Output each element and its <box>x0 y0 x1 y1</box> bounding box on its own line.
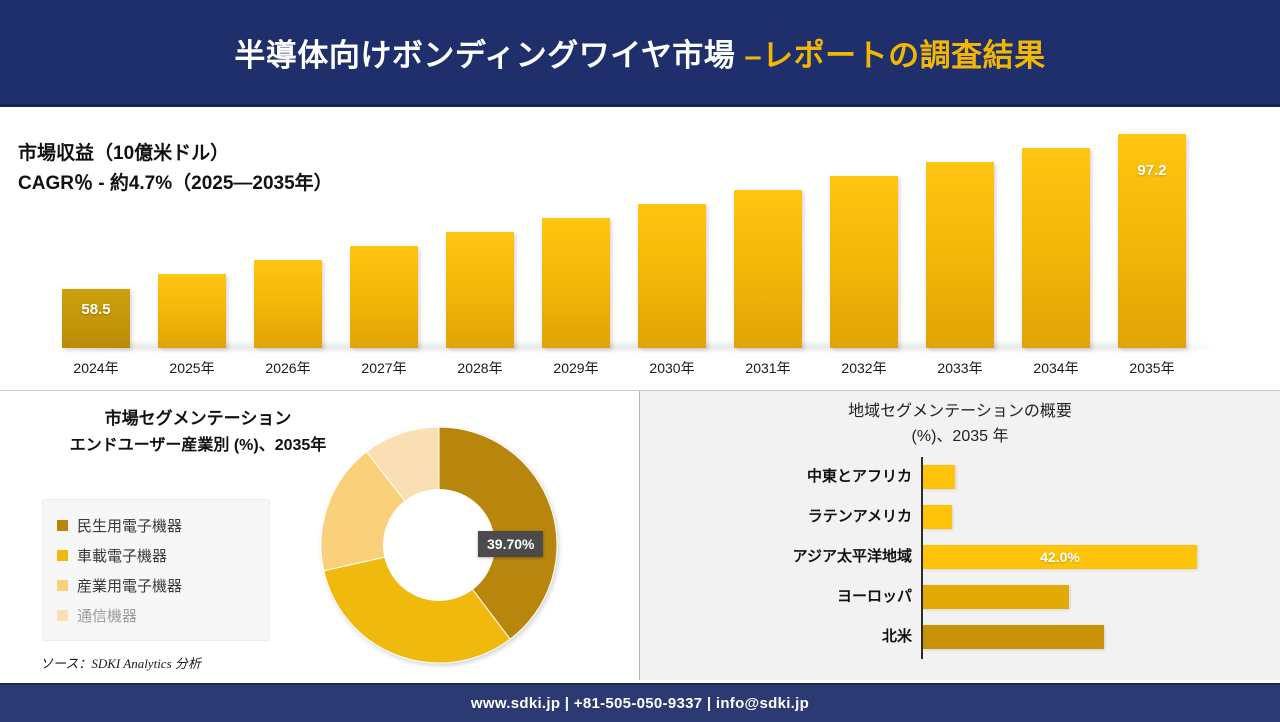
region-title-line2: (%)、2035 年 <box>640 424 1280 449</box>
region-bar-chart: 中東とアフリカラテンアメリカアジア太平洋地域42.0%ヨーロッパ北米 <box>640 457 1280 667</box>
revenue-bar <box>254 260 322 348</box>
legend-swatch-icon <box>57 580 68 591</box>
bottom-panels: 市場セグメンテーション エンドユーザー産業別 (%)、2035年 民生用電子機器… <box>0 391 1280 680</box>
legend-swatch-icon <box>57 550 68 561</box>
revenue-bar-column: 97.2 <box>1118 134 1186 348</box>
region-bar <box>923 625 1104 649</box>
region-bar: 42.0% <box>923 545 1197 569</box>
revenue-bar-column <box>1022 148 1090 348</box>
region-row: ヨーロッパ <box>640 577 1280 617</box>
region-label: 北米 <box>662 625 912 646</box>
legend-item-label: 通信機器 <box>77 605 137 626</box>
page-title: 半導体向けボンディングワイヤ市場 –レポートの調査結果 <box>234 30 1045 75</box>
donut-value-callout: 39.70% <box>478 531 543 557</box>
revenue-bar: 97.2 <box>1118 134 1186 348</box>
region-row: 中東とアフリカ <box>640 457 1280 497</box>
page-title-accent: –レポートの調査結果 <box>744 38 1045 73</box>
revenue-bar-column <box>542 218 610 348</box>
segmentation-panel: 市場セグメンテーション エンドユーザー産業別 (%)、2035年 民生用電子機器… <box>0 391 640 680</box>
region-label: ラテンアメリカ <box>662 505 912 526</box>
region-label: 中東とアフリカ <box>662 465 912 486</box>
revenue-bar-column <box>350 246 418 348</box>
legend-item-label: 車載電子機器 <box>77 545 167 566</box>
page-title-main: 半導体向けボンディングワイヤ市場 <box>234 38 744 73</box>
revenue-bar-column: 58.5 <box>62 289 130 348</box>
revenue-x-axis-label: 2025年 <box>142 358 242 378</box>
footer-bar: www.sdki.jp | +81-505-050-9337 | info@sd… <box>0 683 1280 722</box>
legend-item-label: 民生用電子機器 <box>77 515 182 536</box>
legend-item[interactable]: 民生用電子機器 <box>57 510 257 540</box>
revenue-bar-value: 58.5 <box>62 301 130 318</box>
legend-swatch-icon <box>57 520 68 531</box>
region-label: アジア太平洋地域 <box>662 545 912 566</box>
revenue-x-axis-label: 2032年 <box>814 358 914 378</box>
legend-item[interactable]: 車載電子機器 <box>57 540 257 570</box>
revenue-chart-panel: 市場収益（10億米ドル） CAGR％ - 約4.7%（2025―2035年） 5… <box>0 107 1280 391</box>
source-note: ソース：SDKI Analytics 分析 <box>40 653 201 672</box>
revenue-bar-column <box>254 260 322 348</box>
revenue-bar-column <box>638 204 706 348</box>
revenue-x-axis-label: 2027年 <box>334 358 434 378</box>
revenue-bar-column <box>926 162 994 348</box>
region-row: 北米 <box>640 617 1280 657</box>
revenue-x-axis-label: 2030年 <box>622 358 722 378</box>
revenue-bar <box>446 232 514 348</box>
region-bar <box>923 465 955 489</box>
region-row: ラテンアメリカ <box>640 497 1280 537</box>
revenue-bar <box>734 190 802 348</box>
legend-item[interactable]: 産業用電子機器 <box>57 570 257 600</box>
revenue-bar <box>542 218 610 348</box>
revenue-x-axis-label: 2034年 <box>1006 358 1106 378</box>
infographic-page: 半導体向けボンディングワイヤ市場 –レポートの調査結果 市場収益（10億米ドル）… <box>0 0 1280 720</box>
region-row: アジア太平洋地域42.0% <box>640 537 1280 577</box>
revenue-bar-column <box>158 274 226 348</box>
region-label: ヨーロッパ <box>662 585 912 606</box>
legend-item-label: 産業用電子機器 <box>77 575 182 596</box>
segmentation-legend: 民生用電子機器車載電子機器産業用電子機器通信機器 <box>42 499 270 641</box>
revenue-bar <box>638 204 706 348</box>
region-bar-value: 42.0% <box>923 549 1197 565</box>
region-bar <box>923 505 952 529</box>
revenue-bar <box>158 274 226 348</box>
region-title-line1: 地域セグメンテーションの概要 <box>640 399 1280 424</box>
revenue-bar <box>830 176 898 348</box>
region-bar <box>923 585 1069 609</box>
revenue-bar: 58.5 <box>62 289 130 348</box>
revenue-bar <box>926 162 994 348</box>
region-title: 地域セグメンテーションの概要 (%)、2035 年 <box>640 399 1280 449</box>
segmentation-donut-chart: 39.70% <box>315 421 563 669</box>
revenue-bar-value: 97.2 <box>1118 162 1186 179</box>
legend-swatch-icon <box>57 610 68 621</box>
revenue-x-axis-label: 2033年 <box>910 358 1010 378</box>
footer-contact: www.sdki.jp | +81-505-050-9337 | info@sd… <box>471 695 809 712</box>
revenue-bar-column <box>734 190 802 348</box>
revenue-x-axis-label: 2028年 <box>430 358 530 378</box>
revenue-bar-column <box>446 232 514 348</box>
revenue-x-axis-label: 2026年 <box>238 358 338 378</box>
revenue-bar <box>350 246 418 348</box>
header-banner: 半導体向けボンディングワイヤ市場 –レポートの調査結果 <box>0 0 1280 107</box>
revenue-x-axis-label: 2035年 <box>1102 358 1202 378</box>
revenue-bar-chart: 58.52024年2025年2026年2027年2028年2029年2030年2… <box>0 107 1280 390</box>
revenue-bar-column <box>830 176 898 348</box>
revenue-x-axis-label: 2024年 <box>46 358 146 378</box>
revenue-x-axis-label: 2031年 <box>718 358 818 378</box>
revenue-bar <box>1022 148 1090 348</box>
region-panel: 地域セグメンテーションの概要 (%)、2035 年 中東とアフリカラテンアメリカ… <box>640 391 1280 680</box>
revenue-x-axis-label: 2029年 <box>526 358 626 378</box>
legend-item[interactable]: 通信機器 <box>57 600 257 630</box>
